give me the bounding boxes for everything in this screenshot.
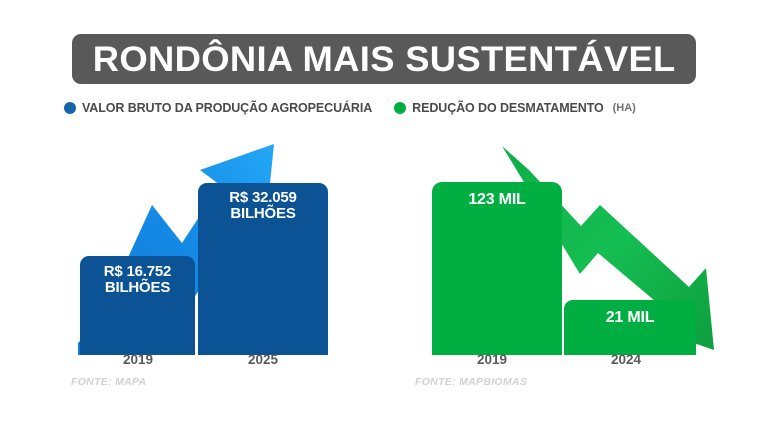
x-tick-2024-green: 2024 bbox=[611, 352, 641, 367]
bar-2019-green bbox=[432, 182, 562, 355]
chart-plot-area-left: R$ 16.752 BILHÕES R$ 32.059 BILHÕES bbox=[60, 130, 370, 355]
chart-plot-area-right: 123 MIL 21 MIL bbox=[404, 130, 724, 355]
source-note-left: FONTE: MAPA bbox=[71, 376, 146, 388]
bar-2025 bbox=[198, 183, 328, 355]
legend-dot-green-icon bbox=[394, 102, 406, 114]
axis-labels-right: 2019 2024 bbox=[404, 352, 724, 376]
left-chart-svg bbox=[60, 130, 370, 355]
legend-label-desmatamento: REDUÇÃO DO DESMATAMENTO bbox=[412, 101, 603, 115]
legend-dot-blue-icon bbox=[64, 102, 76, 114]
legend-item-producao: VALOR BRUTO DA PRODUÇÃO AGROPECUÁRIA bbox=[64, 101, 372, 115]
bar-2019 bbox=[80, 256, 195, 355]
x-tick-2019-green: 2019 bbox=[477, 352, 507, 367]
x-tick-2025: 2025 bbox=[248, 352, 278, 367]
legend-item-desmatamento: REDUÇÃO DO DESMATAMENTO (HA) bbox=[394, 101, 636, 115]
chart-producao-agropecuaria: R$ 16.752 BILHÕES R$ 32.059 BILHÕES 2019… bbox=[60, 130, 370, 405]
chart-reducao-desmatamento: 123 MIL 21 MIL 2019 2024 FONTE: MAPBIOMA… bbox=[404, 130, 724, 405]
legend: VALOR BRUTO DA PRODUÇÃO AGROPECUÁRIA RED… bbox=[64, 98, 704, 118]
source-note-right: FONTE: MAPBIOMAS bbox=[415, 376, 527, 388]
axis-labels-left: 2019 2025 bbox=[60, 352, 370, 376]
right-chart-svg bbox=[404, 130, 724, 355]
title-banner: RONDÔNIA MAIS SUSTENTÁVEL bbox=[72, 34, 696, 84]
page-title: RONDÔNIA MAIS SUSTENTÁVEL bbox=[93, 42, 676, 77]
x-tick-2019: 2019 bbox=[123, 352, 153, 367]
bar-2024-green bbox=[564, 300, 696, 355]
legend-unit-desmatamento: (HA) bbox=[613, 102, 636, 114]
legend-label-producao: VALOR BRUTO DA PRODUÇÃO AGROPECUÁRIA bbox=[82, 101, 372, 115]
infographic-canvas: RONDÔNIA MAIS SUSTENTÁVEL VALOR BRUTO DA… bbox=[0, 0, 768, 432]
